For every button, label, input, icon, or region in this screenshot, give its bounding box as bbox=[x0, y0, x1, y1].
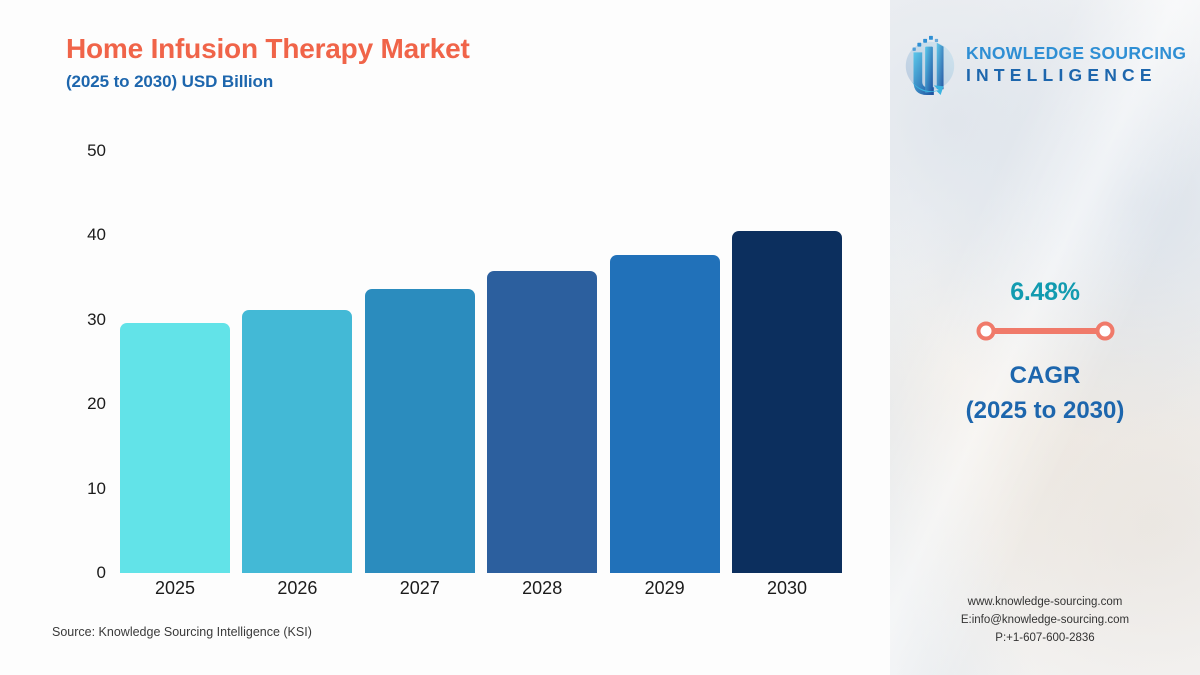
bar-2025 bbox=[120, 323, 230, 573]
dumbbell-connector-icon bbox=[973, 320, 1118, 342]
x-axis-label-2025: 2025 bbox=[120, 578, 230, 599]
logo: KNOWLEDGE SOURCING INTELLIGENCE bbox=[898, 28, 1198, 100]
logo-text: KNOWLEDGE SOURCING INTELLIGENCE bbox=[966, 44, 1186, 84]
x-axis-label-2027: 2027 bbox=[365, 578, 475, 599]
chart-panel: Home Infusion Therapy Market (2025 to 20… bbox=[0, 0, 890, 675]
x-axis-label-2026: 2026 bbox=[242, 578, 352, 599]
y-axis-tick-label: 50 bbox=[58, 141, 106, 161]
infographic-canvas: Home Infusion Therapy Market (2025 to 20… bbox=[0, 0, 1200, 675]
knowledge-sourcing-logo-icon bbox=[898, 33, 960, 95]
contact-email: E:info@knowledge-sourcing.com bbox=[890, 612, 1200, 630]
plot-area: 01020304050202520262027202820292030 bbox=[0, 0, 890, 675]
cagr-value: 6.48% bbox=[890, 278, 1200, 307]
contact-website: www.knowledge-sourcing.com bbox=[890, 594, 1200, 612]
y-axis-tick-label: 20 bbox=[58, 394, 106, 414]
bar-2029 bbox=[610, 255, 720, 573]
y-axis-tick-label: 40 bbox=[58, 225, 106, 245]
cagr-label: CAGR bbox=[890, 359, 1200, 394]
bar-2030 bbox=[732, 231, 842, 573]
y-axis-tick-label: 30 bbox=[58, 310, 106, 330]
cagr-period: (2025 to 2030) bbox=[890, 394, 1200, 429]
brand-panel: KNOWLEDGE SOURCING INTELLIGENCE 6.48% CA… bbox=[890, 0, 1200, 675]
contact-block: www.knowledge-sourcing.com E:info@knowle… bbox=[890, 594, 1200, 647]
logo-line-1: KNOWLEDGE SOURCING bbox=[966, 44, 1186, 62]
source-note: Source: Knowledge Sourcing Intelligence … bbox=[52, 625, 312, 639]
bar-2027 bbox=[365, 289, 475, 573]
y-axis-tick-label: 10 bbox=[58, 479, 106, 499]
logo-line-2: INTELLIGENCE bbox=[966, 66, 1186, 84]
x-axis-label-2028: 2028 bbox=[487, 578, 597, 599]
x-axis-label-2030: 2030 bbox=[732, 578, 842, 599]
contact-phone: P:+1-607-600-2836 bbox=[890, 630, 1200, 648]
cagr-block: 6.48% CAGR (2025 to 2030) bbox=[890, 278, 1200, 429]
x-axis-label-2029: 2029 bbox=[610, 578, 720, 599]
bar-2026 bbox=[242, 310, 352, 573]
bar-2028 bbox=[487, 271, 597, 573]
y-axis-tick-label: 0 bbox=[58, 563, 106, 583]
